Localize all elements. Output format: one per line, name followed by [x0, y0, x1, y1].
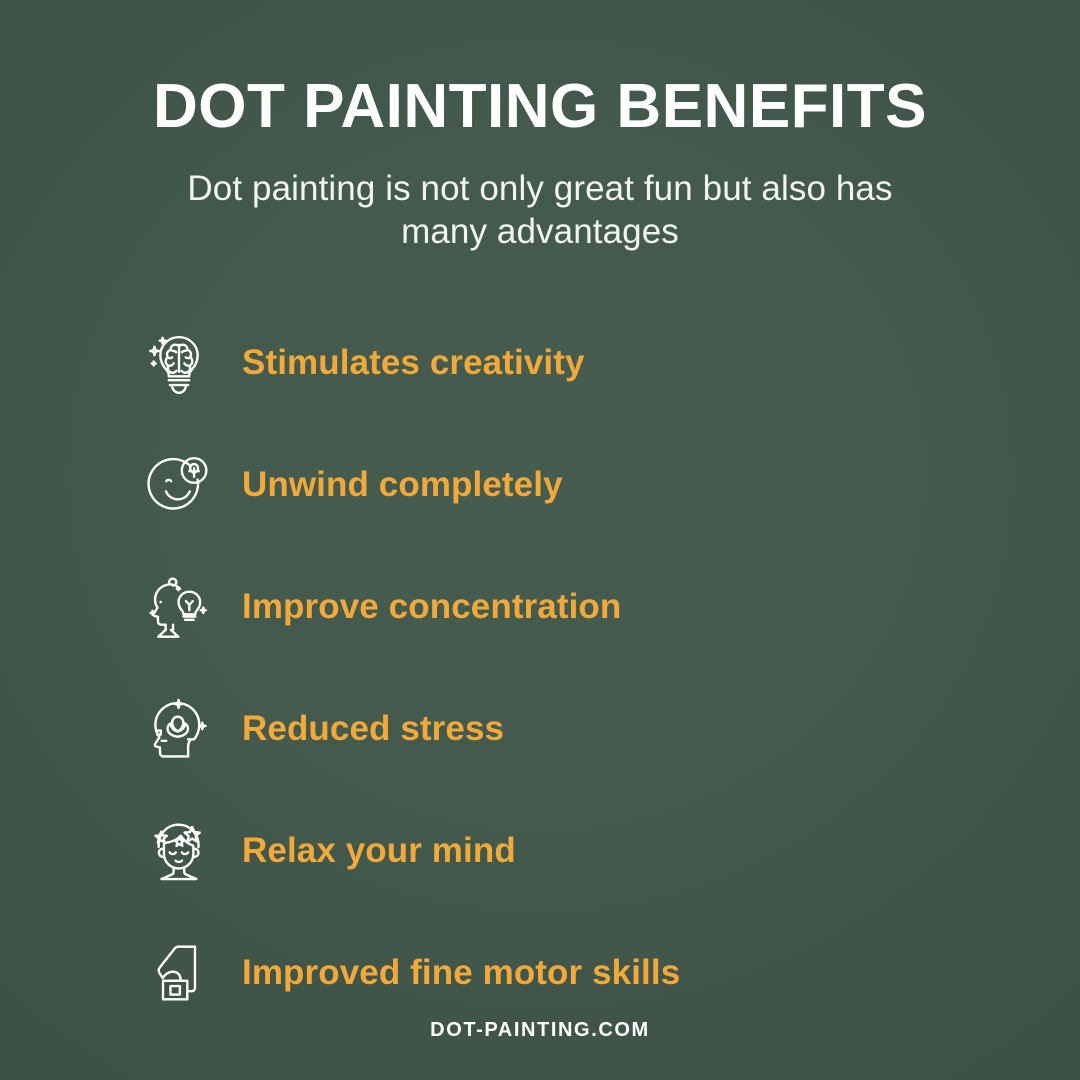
poster-footer: DOT-PAINTING.COM: [0, 1019, 1080, 1042]
list-item: Improve concentration: [140, 546, 621, 668]
list-item-label: Improve concentration: [242, 587, 621, 627]
smiley-flower-icon: [140, 446, 218, 524]
page-title: DOT PAINTING BENEFITS: [0, 74, 1080, 139]
list-item-label: Unwind completely: [242, 465, 563, 505]
list-item-label: Stimulates creativity: [242, 343, 585, 383]
hand-holding-block-icon: [140, 934, 218, 1012]
benefits-list: Stimulates creativity: [0, 302, 1080, 1034]
poster-header: DOT PAINTING BENEFITS Dot painting is no…: [0, 0, 1080, 254]
list-item: Reduced stress: [140, 668, 504, 790]
list-item: Improved fine motor skills: [140, 912, 680, 1034]
head-lightbulb-icon: [140, 568, 218, 646]
head-lotus-icon: [140, 690, 218, 768]
relaxed-face-stars-icon: [140, 812, 218, 890]
brain-lightbulb-icon: [140, 324, 218, 402]
list-item: Relax your mind: [140, 790, 516, 912]
website-url: DOT-PAINTING.COM: [430, 1019, 650, 1041]
list-item-label: Relax your mind: [242, 831, 516, 871]
page-subtitle: Dot painting is not only great fun but a…: [145, 167, 935, 254]
poster-canvas: DOT PAINTING BENEFITS Dot painting is no…: [0, 0, 1080, 1080]
list-item: Unwind completely: [140, 424, 563, 546]
list-item: Stimulates creativity: [140, 302, 585, 424]
list-item-label: Improved fine motor skills: [242, 953, 680, 993]
list-item-label: Reduced stress: [242, 709, 504, 749]
